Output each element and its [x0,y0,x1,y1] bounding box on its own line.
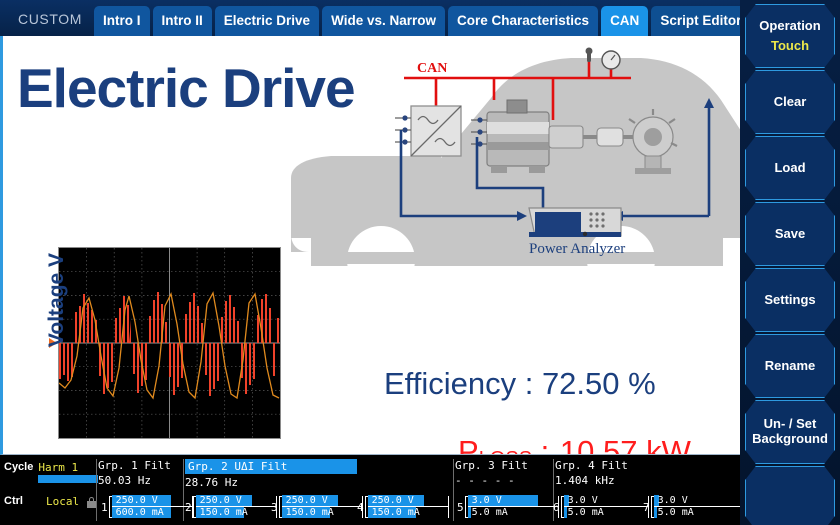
channel-3-volt-row: 250.0 V [282,495,362,506]
channel-4-curr-row: 150.0 mA [368,507,448,518]
channel-2-number: 2 [185,501,192,514]
channel-3-curr-row: 150.0 mA [282,507,362,518]
channel-3-volt-value: 250.0 V [282,495,362,506]
group-3-frequency: - - - - - [455,474,528,487]
softkey-load[interactable]: Load [745,136,835,200]
channel-4-values: 250.0 V150.0 mA [368,495,448,519]
group-3-block[interactable]: Grp. 3 Filt- - - - - [455,459,528,487]
softkey-un-set-background[interactable]: Un- / Set Background [745,400,835,464]
softkey-label: Save [775,227,805,242]
efficiency-label: Efficiency : [384,366,542,401]
channel-7-number: 7 [643,501,650,514]
channel-3-number: 3 [271,501,278,514]
softkey-label: Operation [759,19,820,34]
softkey-sublabel: Touch [771,39,809,54]
channel-7-volt-value: 3.0 V [654,495,740,506]
channel-2-curr-row: 150.0 mA [196,507,276,518]
cycle-bar [38,475,98,483]
ploss-separator: : [532,434,558,455]
channel-5-volt-row: 3.0 V [468,495,558,506]
channel-7-readout[interactable]: 73.0 V5.0 mA [643,495,740,519]
channel-6-curr-value: 5.0 mA [564,507,648,518]
car-silhouette [291,58,740,294]
channel-7-curr-row: 5.0 mA [654,507,740,518]
channel-1-values: 250.0 V600.0 mA [112,495,192,519]
cycle-value: Harm 1 [38,461,78,474]
channel-7-curr-value: 5.0 mA [654,507,740,518]
channel-1-number: 1 [101,501,108,514]
channel-5-values: 3.0 V5.0 mA [468,495,558,519]
efficiency-readout: Efficiency : 72.50 % [384,366,656,402]
scope-y-axis-label: Voltage V [45,240,69,360]
cycle-label: Cycle [4,461,33,473]
electric-drive-diagram: CAN [291,38,740,346]
channel-1-curr-value: 600.0 mA [112,507,192,518]
softkey-label: Clear [774,95,807,110]
channel-6-number: 6 [553,501,560,514]
softkey-save[interactable]: Save [745,202,835,266]
channel-5-number: 5 [457,501,464,514]
inverter-block [411,106,461,156]
channel-2-volt-value: 250.0 V [196,495,276,506]
oscilloscope-display[interactable] [58,247,281,439]
ploss-subscript: LOSS [479,448,532,455]
softkey-settings[interactable]: Settings [745,268,835,332]
group-2-block[interactable]: Grp. 2 UΔI Filt28.76 Hz [185,459,357,489]
channel-6-volt-row: 3.0 V [564,495,648,506]
channel-5-readout[interactable]: 53.0 V5.0 mA [457,495,558,519]
channel-4-curr-value: 150.0 mA [368,507,448,518]
power-analyzer-device [529,208,621,237]
softkey-empty-7[interactable] [745,466,835,525]
ctrl-row: Ctrl Local [4,495,99,521]
lock-icon[interactable] [87,497,96,508]
tab-intro-i[interactable]: Intro I [94,6,150,36]
group-2-frequency: 28.76 Hz [185,476,357,489]
softkey-operation[interactable]: OperationTouch [745,4,835,68]
channel-4-volt-value: 250.0 V [368,495,448,506]
status-bar: Cycle Harm 1 Ctrl Local Grp. 1 Filt50.03… [0,455,740,525]
power-loss-readout: PLOSS : 10.57 kW [458,434,691,455]
tab-can[interactable]: CAN [601,6,648,36]
channel-1-curr-row: 600.0 mA [112,507,192,518]
channel-3-readout[interactable]: 3250.0 V150.0 mA [271,495,362,519]
channel-6-volt-value: 3.0 V [564,495,648,506]
inverter-terminals [395,115,411,144]
softkey-label: Un- / Set Background [752,417,828,447]
softkey-label: Load [774,161,805,176]
channel-5-curr-value: 5.0 mA [468,507,558,518]
status-divider [96,459,97,521]
efficiency-value: 72.50 % [542,366,656,401]
softkey-clear[interactable]: Clear [745,70,835,134]
application-window: CUSTOM Intro IIntro IIElectric DriveWide… [0,0,840,525]
channel-2-volt-row: 250.0 V [196,495,276,506]
channel-3-curr-value: 150.0 mA [282,507,362,518]
channel-2-readout[interactable]: 2250.0 V150.0 mA [185,495,276,519]
control-status-area: Cycle Harm 1 Ctrl Local [4,461,99,521]
channel-7-values: 3.0 V5.0 mA [654,495,740,519]
ploss-value: 10.57 kW [560,434,691,455]
status-divider [453,459,454,521]
channel-6-curr-row: 5.0 mA [564,507,648,518]
channel-endcap [448,496,449,518]
ctrl-value[interactable]: Local [46,495,79,508]
group-1-block[interactable]: Grp. 1 Filt50.03 Hz [98,459,171,487]
softkey-panel: OperationTouchClearLoadSaveSettingsRenam… [740,0,840,525]
channel-7-volt-row: 3.0 V [654,495,740,506]
power-analyzer-label: Power Analyzer [529,241,625,257]
channel-4-readout[interactable]: 4250.0 V150.0 mA [357,495,448,519]
tab-script-editor[interactable]: Script Editor [651,6,740,36]
tab-bar: CUSTOM Intro IIntro IIElectric DriveWide… [0,0,740,36]
ploss-label: P [458,434,479,455]
channel-3-values: 250.0 V150.0 mA [282,495,362,519]
channel-6-readout[interactable]: 63.0 V5.0 mA [553,495,648,519]
channel-2-curr-value: 150.0 mA [196,507,276,518]
channel-2-values: 250.0 V150.0 mA [196,495,276,519]
softkey-rename[interactable]: Rename [745,334,835,398]
channel-5-volt-value: 3.0 V [468,495,558,506]
channel-4-number: 4 [357,501,364,514]
channel-1-readout[interactable]: 1250.0 V600.0 mA [101,495,192,519]
channel-5-curr-row: 5.0 mA [468,507,558,518]
softkey-label: Rename [765,359,816,374]
tab-core-characteristics[interactable]: Core Characteristics [448,6,598,36]
tab-wide-vs-narrow[interactable]: Wide vs. Narrow [322,6,445,36]
cycle-row: Cycle Harm 1 [4,461,99,487]
channel-6-values: 3.0 V5.0 mA [564,495,648,519]
group-1-frequency: 50.03 Hz [98,474,171,487]
channel-1-volt-row: 250.0 V [112,495,192,506]
channel-4-volt-row: 250.0 V [368,495,448,506]
channel-1-volt-value: 250.0 V [112,495,192,506]
group-4-frequency: 1.404 kHz [555,474,628,487]
tab-electric-drive[interactable]: Electric Drive [215,6,319,36]
custom-label: CUSTOM [8,11,94,36]
group-4-header: Grp. 4 Filt [555,459,628,472]
can-bus-label: CAN [417,61,447,76]
tab-intro-ii[interactable]: Intro II [153,6,212,36]
group-2-header: Grp. 2 UΔI Filt [185,459,357,474]
main-content-panel: Electric Drive [0,36,740,455]
group-3-header: Grp. 3 Filt [455,459,528,472]
softkey-label: Settings [764,293,815,308]
group-4-block[interactable]: Grp. 4 Filt1.404 kHz [555,459,628,487]
group-1-header: Grp. 1 Filt [98,459,171,472]
ctrl-label: Ctrl [4,495,23,507]
